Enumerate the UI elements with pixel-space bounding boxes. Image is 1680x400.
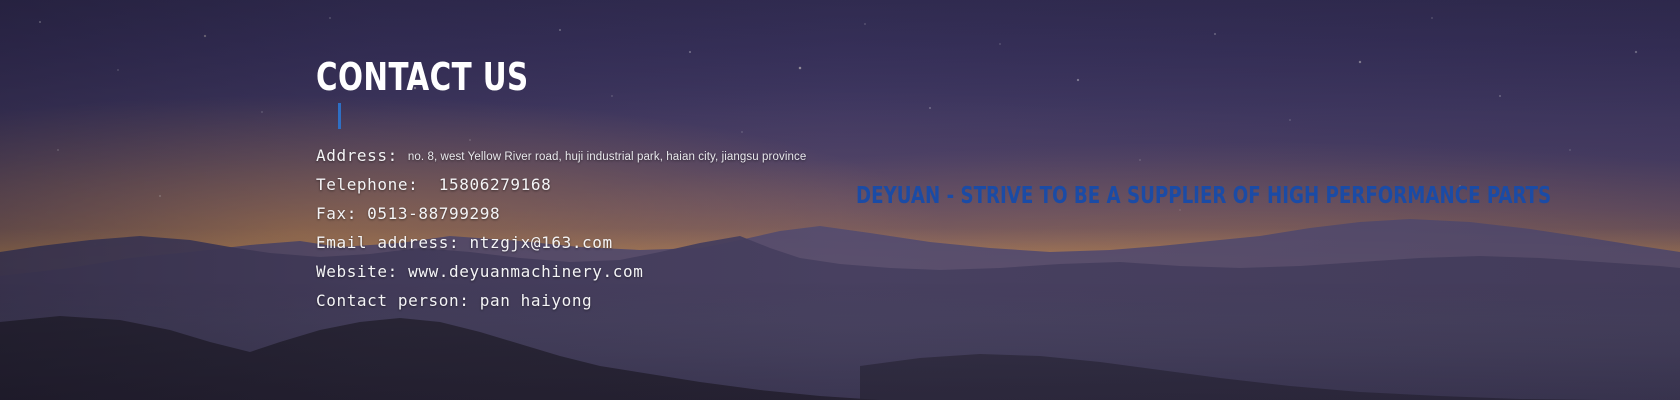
contact-row-address: Address:no. 8, west Yellow River road, h… — [316, 142, 806, 170]
contact-banner: CONTACT US Address:no. 8, west Yellow Ri… — [0, 0, 1680, 400]
contact-value[interactable]: www.deyuanmachinery.com — [408, 262, 643, 281]
contact-label: Telephone: — [316, 175, 418, 194]
contact-row-website: Website: www.deyuanmachinery.com — [316, 257, 806, 286]
contact-value: pan haiyong — [480, 291, 593, 310]
accent-bar — [338, 103, 341, 129]
contact-value[interactable]: ntzgjx@163.com — [470, 233, 613, 252]
contact-value: no. 8, west Yellow River road, huji indu… — [398, 151, 806, 163]
page-title: CONTACT US — [316, 56, 529, 98]
contact-row-contact-person: Contact person: pan haiyong — [316, 286, 806, 315]
contact-details-list: Address:no. 8, west Yellow River road, h… — [316, 142, 806, 315]
contact-row-telephone: Telephone: 15806279168 — [316, 170, 806, 199]
contact-value[interactable]: 15806279168 — [439, 175, 552, 194]
contact-label: Website: — [316, 262, 398, 281]
contact-label: Fax: — [316, 204, 357, 223]
banner-content: CONTACT US Address:no. 8, west Yellow Ri… — [0, 0, 1680, 400]
contact-label: Address: — [316, 146, 398, 165]
contact-value: 0513-88799298 — [367, 204, 500, 223]
heading-block: CONTACT US — [316, 56, 563, 98]
contact-label: Contact person: — [316, 291, 470, 310]
contact-row-fax: Fax: 0513-88799298 — [316, 199, 806, 228]
contact-row-email: Email address: ntzgjx@163.com — [316, 228, 806, 257]
company-tagline: DEYUAN - STRIVE TO BE A SUPPLIER OF HIGH… — [856, 183, 1551, 209]
contact-label: Email address: — [316, 233, 459, 252]
